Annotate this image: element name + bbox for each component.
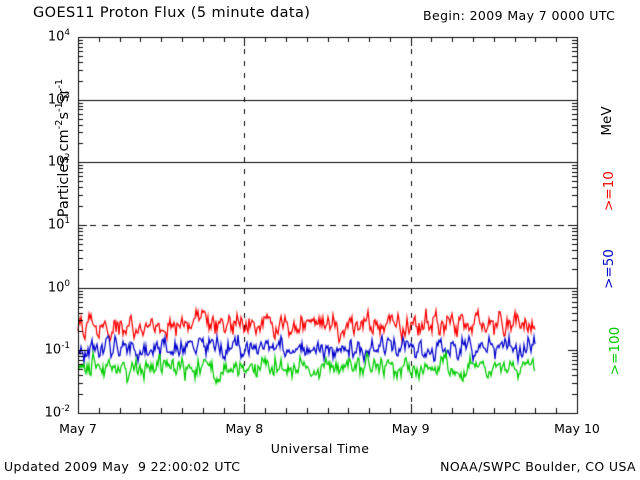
y-tick-exponent: 1 [64, 216, 70, 226]
legend-item-p5: >=50 [601, 237, 619, 301]
y-tick-mantissa: 10 [48, 29, 65, 44]
legend-units-label: MeV [599, 91, 617, 151]
y-tick-mantissa: 10 [45, 405, 62, 420]
y-tick-exponent: 0 [64, 279, 70, 289]
y-tick-label: 104 [18, 28, 70, 44]
y-tick-mantissa: 10 [48, 92, 65, 107]
y-tick-mantissa: 10 [48, 217, 65, 232]
y-tick-exponent: 2 [64, 153, 70, 163]
x-tick-label: May 10 [537, 421, 617, 436]
x-tick-label: May 7 [38, 421, 118, 436]
y-tick-exponent: -1 [61, 341, 70, 351]
proton-flux-plot-page: GOES11 Proton Flux (5 minute data) Begin… [0, 0, 640, 480]
y-tick-label: 101 [18, 216, 70, 232]
y-tick-label: 103 [18, 91, 70, 107]
y-tick-mantissa: 10 [48, 280, 65, 295]
y-axis-label-mid1: s [56, 112, 72, 120]
legend-item-p10: >=100 [607, 313, 625, 389]
begin-time-label: Begin: 2009 May 7 0000 UTC [423, 8, 615, 23]
y-axis-label-exp3: -1 [54, 79, 65, 89]
source-attribution: NOAA/SWPC Boulder, CO USA [440, 459, 636, 474]
updated-timestamp: Updated 2009 May 9 22:00:02 UTC [4, 459, 240, 474]
x-tick-label: May 9 [371, 421, 451, 436]
x-tick-label: May 8 [204, 421, 284, 436]
y-axis-label: Particles cm-2s-1sr-1 [53, 0, 75, 298]
y-tick-exponent: -2 [61, 404, 70, 414]
y-tick-exponent: 4 [64, 28, 70, 38]
y-tick-label: 10-1 [18, 341, 70, 357]
y-tick-label: 102 [18, 153, 70, 169]
x-axis-label: Universal Time [0, 441, 640, 456]
legend-item-p1: >=10 [601, 159, 619, 223]
y-axis-label-exp1: -2 [54, 120, 65, 130]
y-tick-mantissa: 10 [48, 155, 65, 170]
y-tick-mantissa: 10 [45, 343, 62, 358]
y-tick-label: 100 [18, 279, 70, 295]
y-axis-label-prefix: Particles cm [56, 129, 72, 217]
proton-flux-chart-canvas [0, 0, 640, 480]
y-tick-label: 10-2 [18, 404, 70, 420]
y-tick-exponent: 3 [64, 91, 70, 101]
